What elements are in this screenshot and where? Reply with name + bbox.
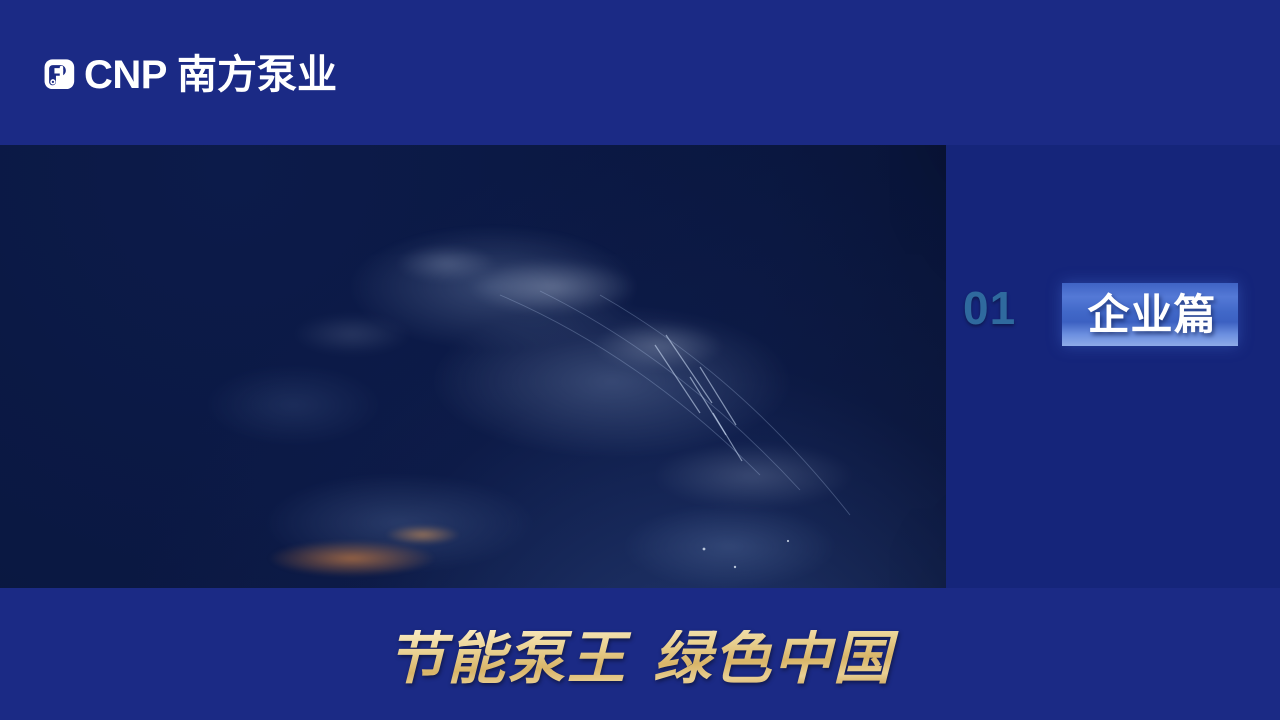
hero-image-earth bbox=[0, 145, 946, 588]
slogan-part-2: 绿色中国 bbox=[653, 626, 893, 691]
footer-slogan: 节能泵王绿色中国 bbox=[0, 630, 1280, 688]
brand-name-en: CNP bbox=[84, 53, 167, 97]
brand-logo[interactable]: CNP南方泵业 bbox=[40, 50, 337, 100]
section-index: 01 bbox=[963, 285, 1016, 331]
cnp-monogram-icon bbox=[40, 56, 78, 94]
slogan-part-1: 节能泵王 bbox=[387, 626, 627, 691]
presentation-slide: CNP南方泵业 bbox=[0, 0, 1280, 720]
limb-glow bbox=[0, 145, 946, 588]
section-panel bbox=[946, 145, 1280, 588]
brand-text: CNP南方泵业 bbox=[84, 55, 337, 95]
header-bar: CNP南方泵业 bbox=[0, 0, 1280, 145]
section-title: 企业篇 bbox=[1069, 288, 1235, 342]
brand-name-cn: 南方泵业 bbox=[177, 53, 337, 97]
